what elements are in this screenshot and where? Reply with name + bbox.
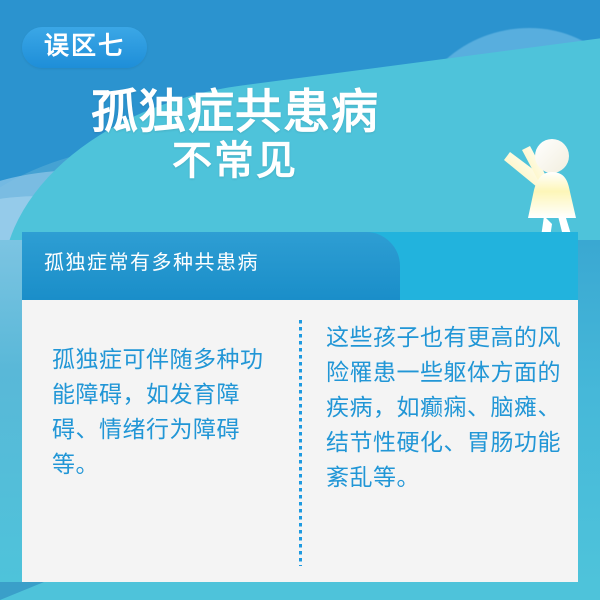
title-line-2: 不常见	[0, 136, 470, 186]
content-column-left-text: 孤独症可伴随多种功能障碍，如发育障碍、情绪行为障碍等。	[22, 342, 300, 482]
subtitle-bar: 孤独症常有多种共患病	[22, 232, 578, 300]
subtitle-text: 孤独症常有多种共患病	[44, 253, 259, 273]
content-column-right: 这些孩子也有更高的风险罹患一些躯体方面的疾病，如癫痫、脑瘫、结节性硬化、胃肠功能…	[300, 300, 578, 582]
title-line-1: 孤独症共患病	[0, 88, 470, 136]
right-edge-accent	[578, 240, 600, 582]
bottom-left-triangle-accent	[0, 582, 44, 600]
poster-title: 孤独症共患病 不常见	[0, 88, 470, 186]
content-columns: 孤独症可伴随多种功能障碍，如发育障碍、情绪行为障碍等。 这些孩子也有更高的风险罹…	[22, 300, 578, 582]
content-column-left: 孤独症可伴随多种功能障碍，如发育障碍、情绪行为障碍等。	[22, 300, 300, 582]
column-divider	[299, 320, 302, 566]
content-column-right-text: 这些孩子也有更高的风险罹患一些躯体方面的疾病，如癫痫、脑瘫、结节性硬化、胃肠功能…	[300, 320, 578, 495]
content-card: 孤独症常有多种共患病 孤独症可伴随多种功能障碍，如发育障碍、情绪行为障碍等。 这…	[22, 232, 578, 582]
misconception-badge: 误区七	[22, 27, 147, 68]
poster-root: 误区七 孤独症共患病 不常见	[0, 0, 600, 600]
left-edge-accent	[0, 240, 22, 582]
bottom-band	[0, 582, 600, 600]
